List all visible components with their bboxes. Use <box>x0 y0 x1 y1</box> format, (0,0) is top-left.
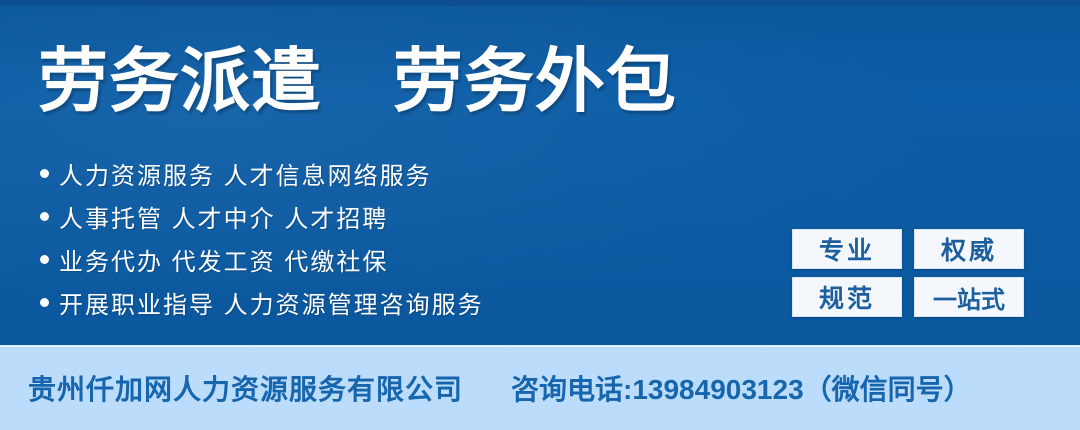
status-badge-standardized: 规范 <box>792 277 902 317</box>
footer-contact-bar: 贵州仟加网人力资源服务有限公司 咨询电话:13984903123（微信同号） <box>0 345 1080 430</box>
status-badge-authoritative: 权威 <box>914 229 1024 269</box>
list-item: 业务代办 代发工资 代缴社保 <box>40 238 760 281</box>
list-item: 人事托管 人才中介 人才招聘 <box>40 195 760 238</box>
service-list: 人力资源服务 人才信息网络服务 人事托管 人才中介 人才招聘 业务代办 代发工资… <box>40 152 760 324</box>
list-item-label: 人事托管 人才中介 人才招聘 <box>59 199 388 234</box>
bullet-dot-icon <box>40 298 49 307</box>
bullet-dot-icon <box>40 169 49 178</box>
list-item: 人力资源服务 人才信息网络服务 <box>40 152 760 195</box>
headline-part-1: 劳务派遣 <box>38 42 322 120</box>
bullet-dot-icon <box>40 255 49 264</box>
headline-part-2: 劳务外包 <box>393 42 677 120</box>
list-item: 开展职业指导 人力资源管理咨询服务 <box>40 281 760 324</box>
feature-badge-group: 专业 权威 规范 一站式 <box>792 229 1024 317</box>
status-badge-professional: 专业 <box>792 229 902 269</box>
status-badge-one-stop: 一站式 <box>914 277 1024 317</box>
list-item-label: 人力资源服务 人才信息网络服务 <box>59 156 432 191</box>
headline: 劳务派遣 劳务外包 <box>38 42 677 120</box>
company-name: 贵州仟加网人力资源服务有限公司 <box>28 368 463 408</box>
bullet-dot-icon <box>40 212 49 221</box>
list-item-label: 开展职业指导 人力资源管理咨询服务 <box>59 285 484 320</box>
advertisement-banner: QIAN JIA WANG GUI ZHOU 劳务派遣 劳务外包 人力资源服务 … <box>0 0 1080 430</box>
list-item-label: 业务代办 代发工资 代缴社保 <box>59 242 388 277</box>
contact-phone: 咨询电话:13984903123（微信同号） <box>511 368 972 408</box>
